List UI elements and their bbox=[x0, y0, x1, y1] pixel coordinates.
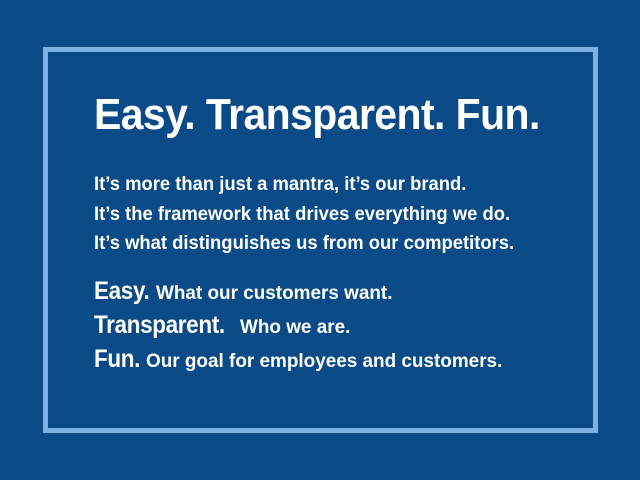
paragraph-line: It’s what distinguishes us from our comp… bbox=[94, 229, 550, 259]
definition-term: Easy. bbox=[94, 276, 149, 307]
slide-headline: Easy. Transparent. Fun. bbox=[94, 92, 531, 138]
slide-canvas: Easy. Transparent. Fun. It’s more than j… bbox=[0, 0, 640, 480]
definition-description: What our customers want. bbox=[156, 278, 392, 309]
definition-term: Fun. bbox=[94, 344, 140, 375]
definition-list: Easy.What our customers want. Transparen… bbox=[94, 259, 564, 378]
definition-description: Who we are. bbox=[240, 312, 350, 343]
definition-term: Transparent. bbox=[94, 310, 225, 341]
definition-row: Fun.Our goal for employees and customers… bbox=[94, 344, 564, 378]
paragraph-line: It’s the framework that drives everythin… bbox=[94, 200, 550, 230]
definition-row: Easy.What our customers want. bbox=[94, 276, 564, 310]
slide-content: Easy. Transparent. Fun. It’s more than j… bbox=[94, 92, 564, 378]
definition-row: Transparent.Who we are. bbox=[94, 310, 564, 344]
paragraph-line: It’s more than just a mantra, it’s our b… bbox=[94, 170, 550, 200]
definition-description: Our goal for employees and customers. bbox=[146, 346, 502, 377]
intro-paragraph: It’s more than just a mantra, it’s our b… bbox=[94, 138, 564, 259]
